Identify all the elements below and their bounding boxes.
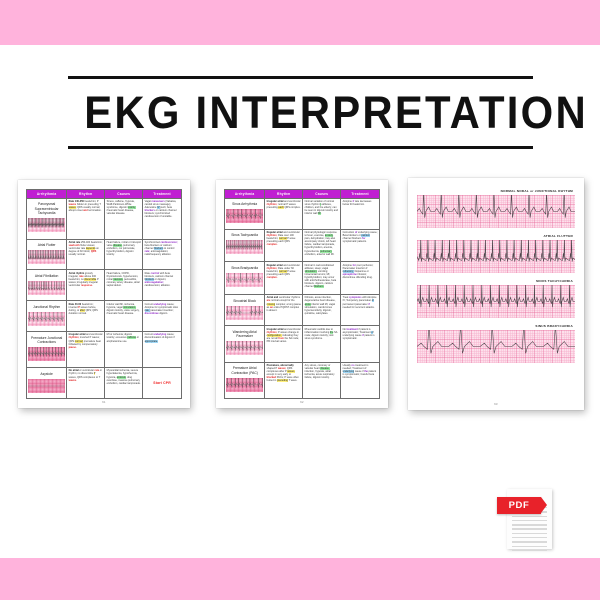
bottom-pink-banner xyxy=(0,558,600,600)
pdf-label: PDF xyxy=(509,500,530,511)
cell-rhythm: Regular atrial and ventricular rhythms; … xyxy=(267,264,301,279)
table-row[interactable]: Sinus Bradycardia Regular atrial and ven… xyxy=(225,262,380,295)
cell-treatment: Atropine for poor perfusion; Pacemaker i… xyxy=(343,264,378,279)
title-rule-top xyxy=(68,76,533,79)
cell-arrhythmia: Asystole xyxy=(27,368,67,399)
ekg-strip-junctional xyxy=(28,312,64,326)
table-row[interactable]: Wandering Atrial Pacemaker Irregular atr… xyxy=(225,326,380,362)
page-folio-1: 61 xyxy=(26,401,182,404)
ekg-strip-normal xyxy=(417,195,575,228)
table-row[interactable]: Atrial Flutter Atrial rate 250-400 beats… xyxy=(27,239,182,270)
column-header-causes: Causes xyxy=(303,190,341,199)
cell-rhythm: Premature, abnormally shaped P waves; QR… xyxy=(267,364,301,383)
ekg-strip-pac xyxy=(226,378,262,392)
column-header-rhythm: Rhythm xyxy=(67,190,105,199)
cell-causes: Heart failure, COPD, thyrotoxicosis, hyp… xyxy=(107,272,141,287)
arrhythmia-name: Wandering Atrial Pacemaker xyxy=(226,330,262,339)
ekg-strip-sinus-tach xyxy=(226,240,262,254)
ekg-strip-svt xyxy=(28,218,64,232)
ekg-strip-pjc xyxy=(28,347,64,361)
cell-rhythm: Rate 40-60 beats/min; inverted P waves b… xyxy=(69,303,103,315)
cell-rhythm: Atrial rhythm grossly irregular, rate ab… xyxy=(69,272,103,287)
cell-rhythm: Irregular atrial and ventricular rhythms… xyxy=(69,333,103,348)
cell-causes: MI or ischemia; digoxin toxicity; excess… xyxy=(107,333,141,342)
arrhythmia-name: Asystole xyxy=(28,372,64,376)
cell-arrhythmia: Junctional Rhythm xyxy=(27,301,67,332)
column-header-causes: Causes xyxy=(105,190,143,199)
page-folio-3: 63 xyxy=(417,403,575,406)
ekg-strip-brady xyxy=(417,330,575,363)
cell-treatment: Atropine if rate decreases below 40 beat… xyxy=(343,200,378,206)
cell-arrhythmia: Paroxysmal Supraventricular Tachycardia xyxy=(27,198,67,239)
ekg-strip-tachy xyxy=(417,285,575,318)
ekg-strip-block: SINUS BRADYCARDIA xyxy=(417,324,575,363)
top-pink-banner xyxy=(0,0,600,45)
cell-treatment: Rate control with beta blockers, calcium… xyxy=(145,272,180,287)
preview-page-3[interactable]: NORMAL NODAL or JUNCTIONAL RHYTHM ATRIAL… xyxy=(408,178,584,410)
ekg-strip-block: NORMAL NODAL or JUNCTIONAL RHYTHM xyxy=(417,189,575,228)
arrhythmia-name: Atrial Fibrillation xyxy=(28,274,64,278)
cell-arrhythmia: Atrial Flutter xyxy=(27,239,67,270)
cell-arrhythmia: Atrial Fibrillation xyxy=(27,270,67,301)
preview-page-1[interactable]: Arrhythmia Rhythm Causes Treatment Parox… xyxy=(18,180,190,408)
ekg-strip-label: SINUS TACHYCARDIA xyxy=(417,279,575,283)
ekg-strip-label: SINUS BRADYCARDIA xyxy=(417,324,575,328)
cell-rhythm: Irregular atrial and ventricular rhythms… xyxy=(267,328,301,343)
cell-rhythm: Atrial and ventricular rhythms are norma… xyxy=(267,296,301,311)
cell-treatment: Vagal maneuvers (Valsalva, carotid sinus… xyxy=(145,200,180,219)
arrhythmia-name: Sinus Arrhythmia xyxy=(226,202,262,206)
ekg-strip-block: SINUS TACHYCARDIA xyxy=(417,279,575,318)
cell-causes: Rheumatic carditis due to inflammation i… xyxy=(305,328,339,340)
ekg-strip-flutter xyxy=(417,240,575,273)
page-folio-2: 62 xyxy=(224,401,380,404)
cell-rhythm: No atrial or ventricular rate or rhythm;… xyxy=(69,369,103,381)
title-block: EKG INTERPRETATION xyxy=(68,76,533,149)
ekg-strip-flutter xyxy=(28,250,64,264)
cell-treatment: Usually no treatment is needed; Treatmen… xyxy=(343,364,378,379)
cell-arrhythmia: Wandering Atrial Pacemaker xyxy=(225,326,265,362)
arrhythmia-name: Premature Atrial Contraction (PAC) xyxy=(226,366,262,375)
cell-rhythm: Irregular atrial and ventricular rhythms… xyxy=(267,200,301,209)
arrhythmia-name: Sinus Bradycardia xyxy=(226,266,262,270)
ekg-strip-wap xyxy=(226,341,262,355)
poster-canvas: EKG INTERPRETATION Arrhythmia Rhythm Cau… xyxy=(0,0,600,600)
table-row[interactable]: Paroxysmal Supraventricular Tachycardia … xyxy=(27,198,182,239)
arrhythmia-name: Premature Junctional Contractions xyxy=(28,336,64,345)
table-header-row: Arrhythmia Rhythm Causes Treatment xyxy=(225,190,380,199)
ekg-strip-sinus-brady xyxy=(226,273,262,287)
title-rule-bottom xyxy=(68,146,533,149)
ekg-strip-sa-block xyxy=(226,306,262,320)
cell-causes: Any stress, coronary or valvular heart d… xyxy=(305,364,339,379)
cell-causes: Normal variation of normal sinus rhythm … xyxy=(305,200,339,215)
pdf-file-icon[interactable]: PDF xyxy=(497,487,552,549)
cell-arrhythmia: Sinus Tachycardia xyxy=(225,229,265,262)
arrhythmia-name: Junctional Rhythm xyxy=(28,305,64,309)
ekg-strip-sinus-arrhythmia xyxy=(226,209,262,223)
cell-treatment: No treatment if patient is asymptomatic;… xyxy=(343,328,378,340)
table-header-row: Arrhythmia Rhythm Causes Treatment xyxy=(27,190,182,199)
cell-rhythm: Atrial rate 250-400 beats/min; sawtooth … xyxy=(69,241,103,256)
cell-treatment: Correction of underlying cause; Beta blo… xyxy=(343,231,378,243)
ekg-strip-label: ATRIAL FLUTTER xyxy=(417,234,575,238)
column-header-arrhythmia: Arrhythmia xyxy=(27,190,67,199)
cell-causes: Normal physiologic response to fever, ex… xyxy=(305,231,339,256)
pdf-ribbon-tag: PDF xyxy=(497,497,541,514)
ekg-strip-asystole xyxy=(28,379,64,393)
table-row[interactable]: Junctional Rhythm Rate 40-60 beats/min; … xyxy=(27,301,182,332)
cell-arrhythmia: Premature Junctional Contractions xyxy=(27,332,67,368)
pdf-text-lines xyxy=(512,507,547,554)
cell-causes: Heart failure, mitral or tricuspid valve… xyxy=(107,241,141,256)
arrhythmia-name: Atrial Flutter xyxy=(28,243,64,247)
arrhythmia-table-2: Arrhythmia Rhythm Causes Treatment Sinus… xyxy=(224,189,380,399)
ekg-strip-block: ATRIAL FLUTTER xyxy=(417,234,575,273)
cell-treatment: Treat symptoms with Atropine IV; Tempora… xyxy=(343,296,378,308)
cell-causes: Fibrosis, acute infection, degenerative … xyxy=(305,296,339,315)
table-row[interactable]: Sinoatrial Block Atrial and ventricular … xyxy=(225,295,380,326)
ekg-strip-afib xyxy=(28,281,64,295)
table-row[interactable]: Sinus Arrhythmia Irregular atrial and ve… xyxy=(225,198,380,229)
column-header-treatment: Treatment xyxy=(143,190,182,199)
cell-causes: Myocardial ischemia, severe hyperkalemia… xyxy=(107,369,141,384)
table-row[interactable]: Premature Atrial Contraction (PAC) Prema… xyxy=(225,362,380,398)
cell-causes: Normal in well-conditioned athletes; sle… xyxy=(305,264,339,289)
table-row[interactable]: Asystole No atrial or ventricular rate o… xyxy=(27,368,182,399)
table-row[interactable]: Premature Junctional Contractions Irregu… xyxy=(27,332,182,368)
column-header-rhythm: Rhythm xyxy=(265,190,303,199)
cell-arrhythmia: Sinus Bradycardia xyxy=(225,262,265,295)
cell-causes: Inferior wall MI, ischemia, hypoxia, vag… xyxy=(107,303,141,315)
table-row[interactable]: Sinus Tachycardia Regular atrial and ven… xyxy=(225,229,380,262)
column-header-treatment: Treatment xyxy=(341,190,380,199)
cell-rhythm: Rate 140-250 beats/min; P waves hidden i… xyxy=(69,200,103,212)
cell-rhythm: Regular atrial and ventricular rhythms; … xyxy=(267,231,301,246)
cell-arrhythmia: Sinus Arrhythmia xyxy=(225,198,265,229)
cell-arrhythmia: Premature Atrial Contraction (PAC) xyxy=(225,362,265,398)
cell-treatment: Synchronized cardioversion; beta blocker… xyxy=(145,241,180,256)
ekg-strip-label: NORMAL NODAL or JUNCTIONAL RHYTHM xyxy=(417,189,575,193)
cell-causes: Stress, caffeine, hypoxia, Wolff-Parkins… xyxy=(107,200,141,215)
arrhythmia-table-1: Arrhythmia Rhythm Causes Treatment Parox… xyxy=(26,189,182,399)
preview-page-2[interactable]: Arrhythmia Rhythm Causes Treatment Sinus… xyxy=(216,180,388,408)
arrhythmia-name: Sinoatrial Block xyxy=(226,299,262,303)
arrhythmia-name: Paroxysmal Supraventricular Tachycardia xyxy=(28,202,64,215)
cell-treatment: Correct underlying cause; Atropine for s… xyxy=(145,303,180,315)
column-header-arrhythmia: Arrhythmia xyxy=(225,190,265,199)
cpr-alert-text: Start CPR xyxy=(145,381,180,385)
arrhythmia-name: Sinus Tachycardia xyxy=(226,233,262,237)
cell-arrhythmia: Sinoatrial Block xyxy=(225,295,265,326)
page-title: EKG INTERPRETATION xyxy=(84,85,516,141)
table-row[interactable]: Atrial Fibrillation Atrial rhythm grossl… xyxy=(27,270,182,301)
cell-treatment: Correct underlying cause; discontinuatio… xyxy=(145,333,180,342)
